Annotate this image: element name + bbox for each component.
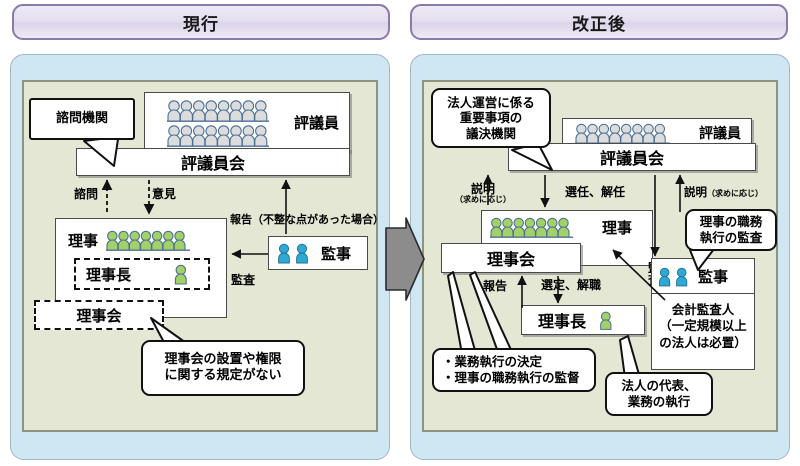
right-report-label: 報告 xyxy=(483,279,507,293)
right-chairman-box: 理事長 xyxy=(521,305,645,335)
left-council-board-label: 評議員会 xyxy=(77,150,349,174)
right-board-callout-line2: ・理事の職務執行の監督 xyxy=(442,370,580,386)
councillor-row-1 xyxy=(167,98,269,122)
left-councillors-box: 評議員 xyxy=(144,92,350,152)
councillor-row-2 xyxy=(167,123,269,147)
left-auditor-box: 監事 xyxy=(268,236,368,270)
right-council-board-label: 評議員会 xyxy=(509,145,755,169)
left-report-text: 報告（不整な点があった場合） xyxy=(230,214,384,226)
right-top-callout-line1: 法人運営に係る xyxy=(447,95,535,111)
right-auditor-accountant-box: 監事 会計監査人 （一定規模以上 の法人は必置） xyxy=(651,258,755,370)
left-board-of-directors-label: 理事会 xyxy=(36,305,162,326)
right-chairman-callout-line1: 法人の代表、 xyxy=(621,378,696,394)
person-icon-blue-gray-row xyxy=(167,98,269,122)
right-explain-right-main: 説明 xyxy=(684,185,707,199)
left-council-board-box: 評議員会 xyxy=(76,148,350,176)
right-top-callout-line2: 重要事項の xyxy=(460,110,523,126)
left-auditor-label: 監事 xyxy=(321,243,351,264)
right-auditor-callout: 理事の職務 執行の監査 xyxy=(685,209,777,251)
left-board-of-directors-box: 理事会 xyxy=(34,300,164,330)
right-accountant-line3: の法人は必置） xyxy=(652,335,754,351)
right-chairman-callout-line2: 業務の執行 xyxy=(628,394,691,410)
left-audit-text: 監査 xyxy=(231,274,255,287)
right-top-callout: 法人運営に係る 重要事項の 議決機関 xyxy=(431,88,551,148)
person-icon-green xyxy=(598,310,614,330)
left-consult-text: 諮問 xyxy=(74,188,98,201)
left-bottom-callout-line1: 理事会の設置や権限 xyxy=(164,352,281,368)
right-appoint-dismiss-text: 選任、解任 xyxy=(565,186,625,199)
left-report-label: 報告（不整な点があった場合） xyxy=(230,213,384,226)
right-auditor-callout-line2: 執行の監査 xyxy=(700,230,763,246)
left-bottom-callout: 理事会の設置や権限 に関する規定がない xyxy=(141,340,305,396)
right-auditor-label: 監事 xyxy=(698,266,728,287)
right-accountant-line2: （一定規模以上 xyxy=(652,318,754,334)
right-accountant-line1: 会計監査人 xyxy=(652,302,754,318)
right-councillors-label: 評議員 xyxy=(699,123,751,143)
left-chairman-box: 理事長 xyxy=(74,258,210,290)
header-current: 現行 xyxy=(12,4,390,40)
right-top-callout-line3: 議決機関 xyxy=(466,126,516,142)
person-icon-blue-gray-row xyxy=(575,122,675,144)
left-directors-label: 理事 xyxy=(68,230,98,251)
left-councillors-icons xyxy=(167,98,269,147)
person-icon-cyan-pair xyxy=(277,242,315,264)
diagram-root: 現行 改正後 xyxy=(0,0,800,466)
right-select-dismiss-text: 選定、解職 xyxy=(541,279,601,292)
right-board-of-directors-label: 理事会 xyxy=(442,246,580,270)
header-revised: 改正後 xyxy=(410,4,788,40)
left-bottom-callout-line2: に関する規定がない xyxy=(164,368,281,384)
right-appoint-dismiss-label: 選任、解任 xyxy=(565,185,625,199)
right-explain-left-main: 説明 xyxy=(455,183,511,196)
right-report-text: 報告 xyxy=(483,280,507,293)
right-chairman-label: 理事長 xyxy=(538,308,586,332)
person-icon-green xyxy=(172,263,190,285)
left-advisory-callout-label: 諮問機関 xyxy=(56,111,108,127)
right-explain-right-text: 説明（求めに応じ） xyxy=(684,186,763,198)
right-board-callout-line1: ・業務執行の決定 xyxy=(442,354,542,370)
person-icon-green-row xyxy=(106,229,196,251)
person-icon-green-row xyxy=(490,216,578,238)
person-icon-cyan-pair xyxy=(658,266,694,287)
right-board-of-directors-box: 理事会 xyxy=(441,243,581,273)
header-current-label: 現行 xyxy=(183,10,219,35)
left-opinion-text: 意見 xyxy=(152,188,176,201)
right-board-callout: ・業務執行の決定 ・理事の職務執行の監督 xyxy=(432,348,596,392)
person-icon-blue-gray-row xyxy=(167,123,269,147)
left-councillors-label: 評議員 xyxy=(294,112,349,133)
right-directors-label: 理事 xyxy=(602,217,632,238)
right-explain-left-text: 説明 （求めに応じ） xyxy=(455,183,511,204)
right-auditor-callout-line1: 理事の職務 xyxy=(700,214,763,230)
left-audit-label: 監査 xyxy=(231,273,255,287)
left-opinion-label: 意見 xyxy=(152,187,176,201)
right-select-dismiss-label: 選定、解職 xyxy=(541,278,601,292)
header-revised-label: 改正後 xyxy=(572,10,626,35)
right-explain-left-sub: （求めに応じ） xyxy=(455,196,511,204)
right-explain-right-sub: （求めに応じ） xyxy=(707,189,763,198)
right-chairman-callout: 法人の代表、 業務の執行 xyxy=(605,372,713,416)
left-chairman-label: 理事長 xyxy=(76,264,131,285)
left-consult-label: 諮問 xyxy=(74,187,98,201)
left-advisory-callout: 諮問機関 xyxy=(29,98,135,140)
